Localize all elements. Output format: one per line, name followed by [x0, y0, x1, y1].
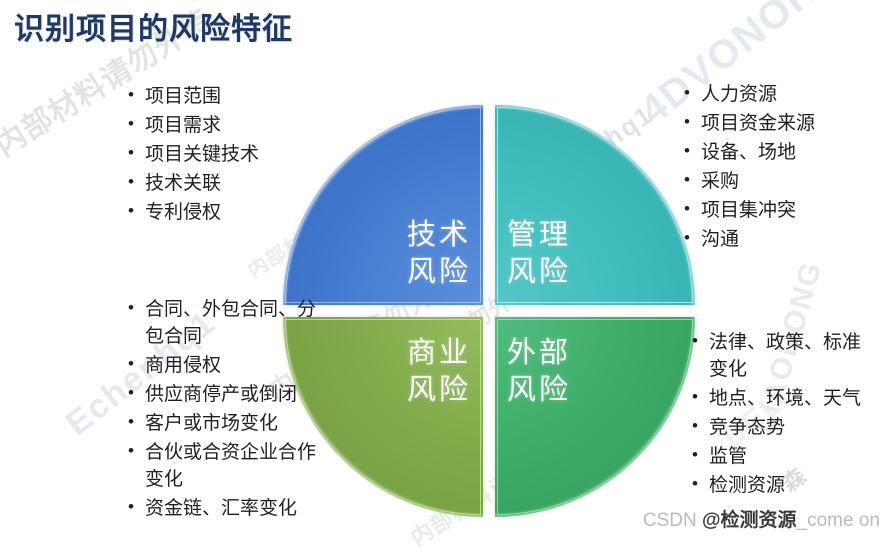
list-item: 资金链、汇率变化 [128, 496, 328, 523]
list-item: 技术关联 [128, 171, 333, 198]
quadrant-label-business-risk: 商业 风险 [407, 335, 471, 409]
list-item: 人力资源 [684, 82, 888, 109]
list-item: 合同、外包合同、分包合同 [128, 297, 328, 351]
list-item: 商用侵权 [128, 353, 328, 380]
quadrant-label-line2: 风险 [407, 372, 471, 409]
quadrant-label-line1: 商业 [407, 335, 471, 372]
list-item: 采购 [684, 169, 888, 196]
list-item: 法律、政策、标准变化 [692, 330, 872, 384]
list-item: 项目集冲突 [684, 198, 888, 225]
list-item: 设备、场地 [684, 140, 888, 167]
quadrant-label-line1: 管理 [507, 217, 571, 254]
list-item: 地点、环境、天气 [692, 386, 872, 413]
quadrant-label-line1: 外部 [507, 335, 571, 372]
csdn-handle: @检测资源 [702, 510, 797, 531]
bullet-list-technical-items: 项目范围项目需求项目关键技术技术关联专利侵权 [128, 84, 333, 227]
list-item: 检测资源 [692, 473, 872, 500]
bullet-list-management-items: 人力资源项目资金来源设备、场地采购项目集冲突沟通 [684, 82, 888, 254]
bullet-list-business-items: 合同、外包合同、分包合同商用侵权供应商停产或倒闭客户或市场变化合伙或合资企业合作… [128, 297, 328, 523]
risk-wheel-diagram: 技术 风险 管理 风险 商业 风险 外部 风险 [283, 105, 695, 517]
list-item: 供应商停产或倒闭 [128, 382, 328, 409]
quadrant-label-technical-risk: 技术 风险 [407, 217, 471, 291]
csdn-watermark: CSDN @检测资源_come on [643, 505, 880, 532]
bullet-list-external-risk: 法律、政策、标准变化地点、环境、天气竞争态势监管检测资源 [692, 330, 872, 502]
csdn-suffix: _come on [797, 510, 880, 531]
list-item: 项目需求 [128, 113, 333, 140]
bullet-list-business-risk: 合同、外包合同、分包合同商用侵权供应商停产或倒闭客户或市场变化合伙或合资企业合作… [128, 297, 328, 525]
list-item: 客户或市场变化 [128, 411, 328, 438]
quadrant-label-management-risk: 管理 风险 [507, 217, 571, 291]
list-item: 项目关键技术 [128, 142, 333, 169]
wheel-quadrant-external-risk[interactable]: 外部 风险 [495, 317, 695, 517]
bullet-list-management-risk: 人力资源项目资金来源设备、场地采购项目集冲突沟通 [684, 82, 888, 256]
list-item: 竞争态势 [692, 415, 872, 442]
list-item: 监管 [692, 444, 872, 471]
bullet-list-technical-risk: 项目范围项目需求项目关键技术技术关联专利侵权 [128, 84, 333, 229]
list-item: 项目资金来源 [684, 111, 888, 138]
bullet-list-external-items: 法律、政策、标准变化地点、环境、天气竞争态势监管检测资源 [692, 330, 872, 500]
quadrant-label-line2: 风险 [507, 254, 571, 291]
wheel-quadrant-management-risk[interactable]: 管理 风险 [495, 105, 695, 305]
list-item: 专利侵权 [128, 200, 333, 227]
csdn-brand: CSDN [643, 510, 697, 531]
quadrant-label-external-risk: 外部 风险 [507, 335, 571, 409]
list-item: 沟通 [684, 227, 888, 254]
list-item: 合伙或合资企业合作变化 [128, 440, 328, 494]
quadrant-label-line1: 技术 [407, 217, 471, 254]
list-item: 项目范围 [128, 84, 333, 111]
page-title: 识别项目的风险特征 [14, 4, 293, 48]
quadrant-label-line2: 风险 [407, 254, 471, 291]
quadrant-label-line2: 风险 [507, 372, 571, 409]
